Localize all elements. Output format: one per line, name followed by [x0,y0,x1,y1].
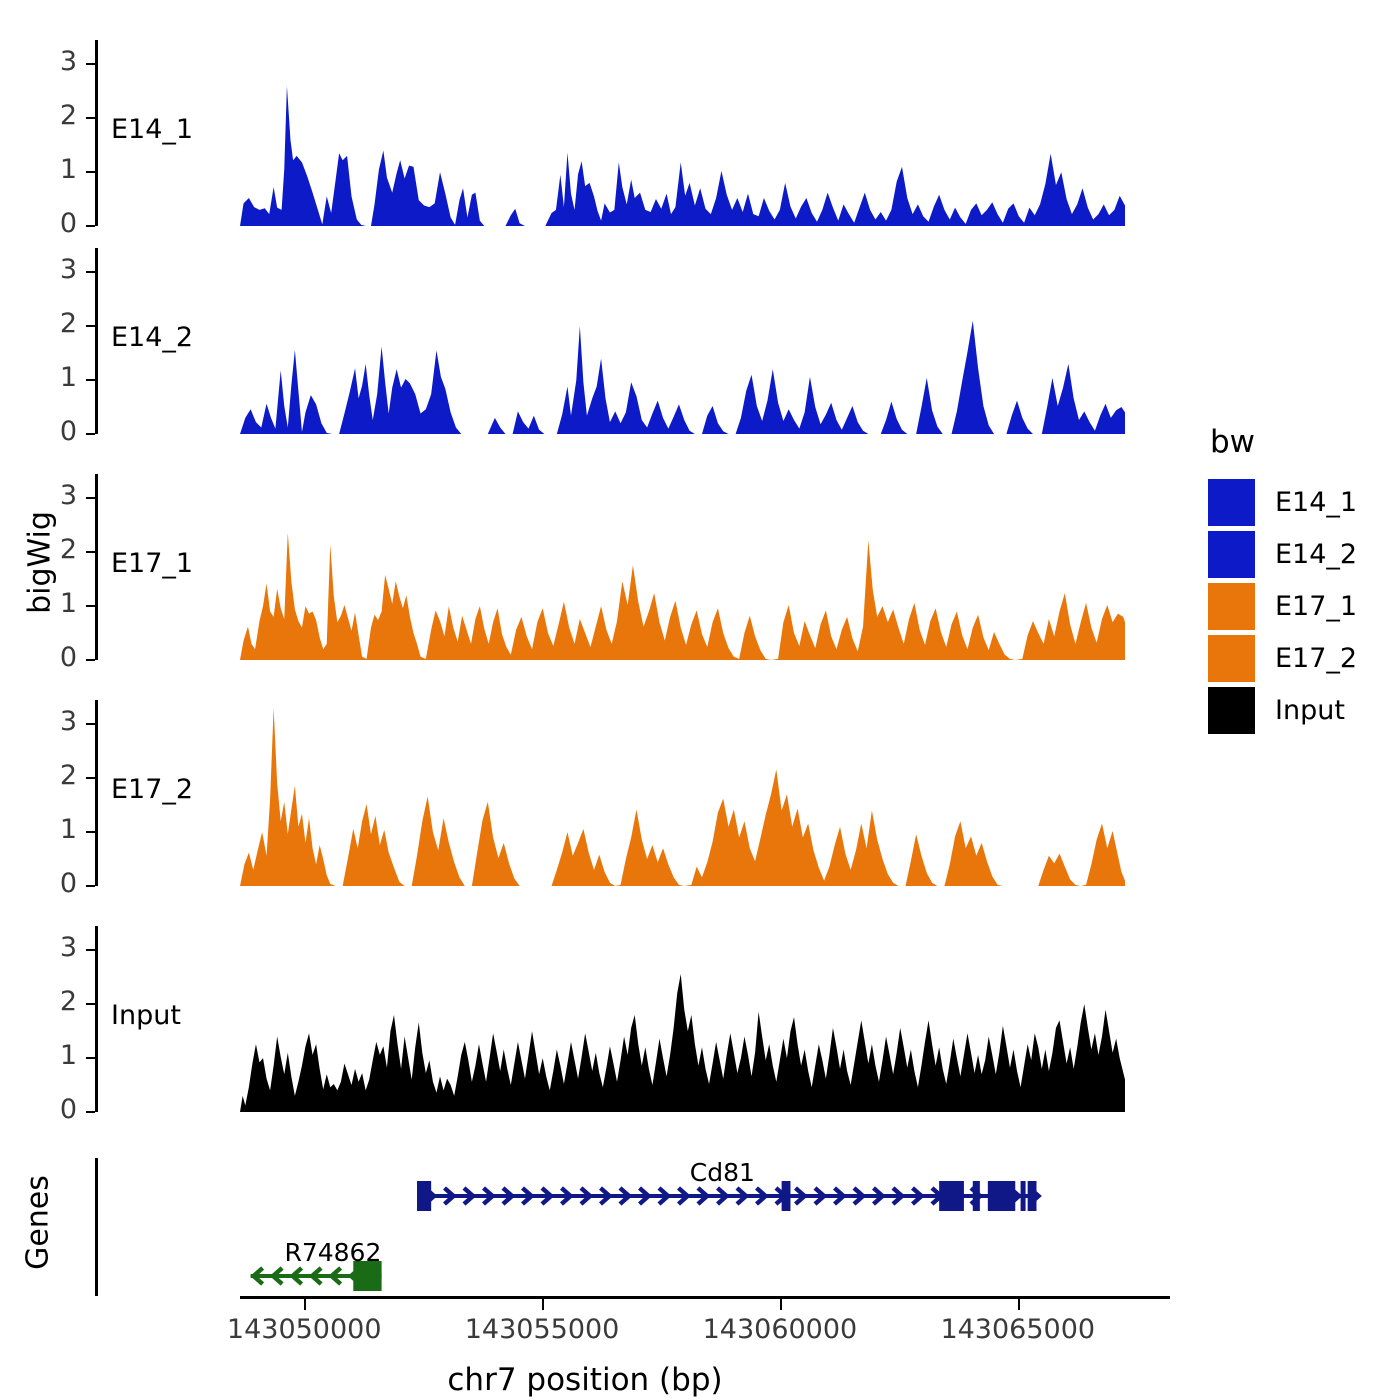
x-axis-title: chr7 position (bp) [0,1362,1170,1398]
y-tick [86,659,95,661]
x-tick-label: 143065000 [908,1314,1128,1345]
genome-browser-figure: bigWig Genes 0123E14_10123E14_20123E17_1… [0,0,1400,1400]
x-tick [304,1299,306,1310]
y-tick-label: 0 [15,416,77,447]
legend-item-e14_2[interactable]: E14_2 [1208,528,1398,580]
y-tick-label: 2 [15,534,77,565]
x-tick-label: 143060000 [670,1314,890,1345]
panel-label-e17_2: E17_2 [111,774,193,805]
legend-label: Input [1275,695,1345,726]
legend-swatch [1208,687,1255,734]
legend-swatch [1208,531,1255,578]
y-tick-label: 2 [15,760,77,791]
area-fill [240,708,1125,886]
y-tick-label: 1 [15,1040,77,1071]
legend-swatch [1208,583,1255,630]
y-tick-label: 0 [15,208,77,239]
y-tick [86,605,95,607]
y-tick [86,885,95,887]
legend-item-e14_1[interactable]: E14_1 [1208,476,1398,528]
panel-label-input: Input [111,1000,181,1031]
y-tick-label: 3 [15,46,77,77]
x-axis-line [240,1296,1170,1299]
exon [1021,1181,1026,1211]
legend-title: bw [1210,424,1398,460]
x-tick-label: 143050000 [194,1314,414,1345]
y-tick [86,117,95,119]
exon [782,1181,791,1211]
y-tick-label: 2 [15,100,77,131]
area-fill [240,533,1125,660]
y-tick [86,433,95,435]
y-tick-label: 3 [15,706,77,737]
y-tick [86,1057,95,1059]
exon [1028,1181,1037,1211]
y-tick [86,949,95,951]
y-tick [86,63,95,65]
y-tick-label: 2 [15,986,77,1017]
x-tick [780,1299,782,1310]
y-tick-label: 0 [15,642,77,673]
exon [417,1181,431,1211]
y-tick [86,1003,95,1005]
y-tick [86,325,95,327]
y-tick [86,225,95,227]
genes-axis-line [95,1158,98,1296]
legend-label: E14_2 [1275,539,1357,570]
y-tick [86,551,95,553]
y-tick-label: 3 [15,932,77,963]
bigwig-track-e14_1[interactable] [240,40,1125,226]
y-axis-line-e17_2 [95,700,98,886]
legend-item-e17_1[interactable]: E17_1 [1208,580,1398,632]
exon [973,1181,980,1211]
legend-label: E17_1 [1275,591,1357,622]
y-tick [86,271,95,273]
legend: bw E14_1E14_2E17_1E17_2Input [1208,424,1398,736]
y-axis-line-e14_1 [95,40,98,226]
y-tick-label: 0 [15,868,77,899]
x-tick-label: 143055000 [432,1314,652,1345]
y-tick [86,497,95,499]
legend-items: E14_1E14_2E17_1E17_2Input [1208,476,1398,736]
y-tick [86,831,95,833]
genes-panel: Cd81 R74862 [0,1158,1400,1296]
legend-item-input[interactable]: Input [1208,684,1398,736]
legend-swatch [1208,635,1255,682]
y-tick-label: 3 [15,254,77,285]
bigwig-track-e17_2[interactable] [240,700,1125,886]
gene-label-r74862: R74862 [284,1238,381,1267]
y-tick [86,1111,95,1113]
gene-label-cd81: Cd81 [690,1158,755,1187]
area-fill [240,321,1125,434]
bigwig-track-e14_2[interactable] [240,248,1125,434]
y-tick [86,379,95,381]
bigwig-track-e17_1[interactable] [240,474,1125,660]
y-tick-label: 3 [15,480,77,511]
area-fill [240,86,1125,226]
genes-track[interactable] [240,1158,1125,1296]
y-tick-label: 2 [15,308,77,339]
legend-label: E14_1 [1275,487,1357,518]
y-axis-line-e14_2 [95,248,98,434]
y-tick-label: 1 [15,362,77,393]
legend-label: E17_2 [1275,643,1357,674]
y-tick-label: 1 [15,814,77,845]
legend-swatch [1208,479,1255,526]
bigwig-track-input[interactable] [240,926,1125,1112]
y-axis-line-input [95,926,98,1112]
x-tick [1018,1299,1020,1310]
y-tick-label: 1 [15,154,77,185]
y-tick-label: 1 [15,588,77,619]
legend-item-e17_2[interactable]: E17_2 [1208,632,1398,684]
y-axis-line-e17_1 [95,474,98,660]
panel-label-e17_1: E17_1 [111,548,193,579]
panel-label-e14_1: E14_1 [111,114,193,145]
y-tick [86,171,95,173]
exon [939,1181,964,1211]
y-tick-label: 0 [15,1094,77,1125]
area-fill [240,974,1125,1112]
panel-label-e14_2: E14_2 [111,322,193,353]
x-tick [542,1299,544,1310]
exon [988,1181,1015,1211]
y-tick [86,777,95,779]
y-tick [86,723,95,725]
